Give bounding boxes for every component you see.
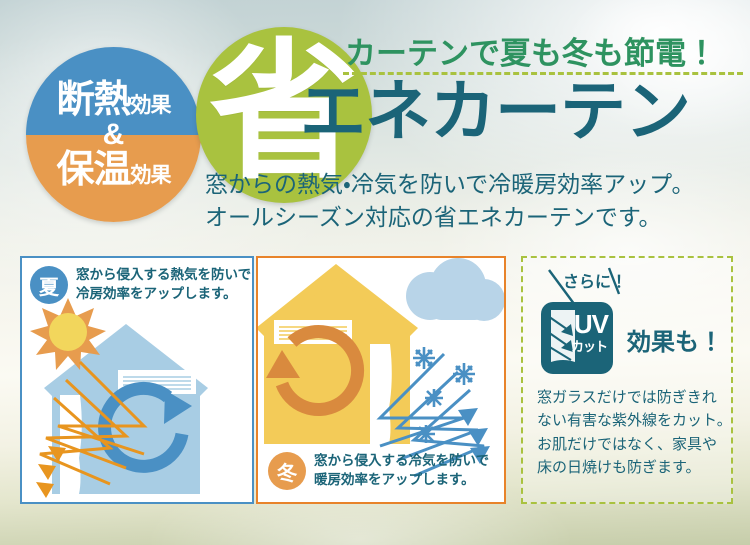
house-body-winter-left [264,270,336,444]
badge-hoon-label: 保温 [56,151,130,189]
uv-cut-icon: UV カット [541,302,613,374]
curtain-summer [60,395,82,494]
badge-ampersand: & [103,120,125,150]
curtain-winter [370,344,392,444]
ac-unit-louvers-winter [279,327,347,339]
uv-body-line-1: 窓ガラスだけでは防ぎきれ [537,386,727,409]
summer-panel: 夏 窓から侵入する熱気を防いで 冷房効率をアップします。 [20,256,254,504]
winter-caption-line-2: 暖房効率をアップします。 [314,471,489,490]
ac-unit-summer [118,370,196,394]
house-roof-summer [44,324,208,396]
lead-paragraph: 窓からの熱気・冷気を防いで冷暖房効率アップ。 オールシーズン対応の省エネカーテン… [205,168,694,233]
winter-caption-group: 冬 窓から侵入する冷気を防いで 暖房効率をアップします。 [268,452,489,490]
page-title: エネカーテン [300,78,690,144]
summer-caption-line-2: 冷房効率をアップします。 [76,285,251,304]
summer-caption-line-1: 窓から侵入する熱気を防いで [76,266,251,285]
cloud-icon-winter [406,258,504,321]
ac-unit-winter [274,320,352,344]
winter-panel: 冬 窓から侵入する冷気を防いで 暖房効率をアップします。 [256,256,506,504]
eco-curtain-banner: 断熱 効果 & 保温 効果 省 カーテンで夏も冬も節電！ エネカーテン 窓からの… [0,0,750,545]
sarani-label: さらに！ [563,268,627,292]
winter-caption-text: 窓から侵入する冷気を防いで 暖房効率をアップします。 [314,452,489,489]
uv-body-line-2: ない有害な紫外線をカット。 [537,409,727,432]
uv-cut-panel: さらに！ UV カット 効果も！ 窓ガラスだけでは防ぎきれ ない有害な紫外線をカ [521,256,733,504]
badge-hoon-effect-label: 効果 [131,165,171,189]
uv-effect-label: 効果も！ [627,322,723,357]
house-roof-winter [258,264,418,336]
lead-line-1: 窓からの熱気・冷気を防いで冷暖房効率アップ。 [205,168,694,201]
badge-text-group: 断熱 効果 & 保温 効果 [26,47,201,222]
heat-ray-zigzag-summer [40,362,144,484]
season-badge-winter: 冬 [268,452,306,490]
air-circulation-arrow-winter [266,332,358,410]
uv-body-line-4: 床の日焼けも防ぎます。 [537,456,727,479]
winter-caption-line-1: 窓から侵入する冷気を防いで [314,452,489,471]
uv-body-line-3: お肌だけではなく、家具や [537,433,727,456]
insulation-effect-badge: 断熱 効果 & 保温 効果 [26,47,201,222]
house-body-winter [336,270,410,444]
sun-icon-summer [30,298,106,370]
badge-danetsu-label: 断熱 [56,81,130,119]
tagline-text: カーテンで夏も冬も節電！ [345,28,717,73]
badge-danetsu-effect-label: 効果 [131,95,171,119]
house-body-summer-left [52,330,126,494]
ac-unit-louvers-summer [123,377,191,389]
badge-line-insulation: 断熱 効果 [56,81,170,119]
summer-caption-text: 窓から侵入する熱気を防いで 冷房効率をアップします。 [76,266,251,303]
badge-line-warmth: 保温 効果 [56,151,170,189]
snowflake-icon [413,347,475,443]
lead-line-2: オールシーズン対応の省エネカーテンです。 [205,201,694,234]
air-circulation-arrow-summer [105,388,192,466]
summer-caption-group: 夏 窓から侵入する熱気を防いで 冷房効率をアップします。 [30,266,251,304]
uv-badge-main-label: UV [574,311,608,337]
season-badge-summer: 夏 [30,266,68,304]
uv-badge-sub-label: カット [571,340,607,353]
house-body-summer [126,330,200,494]
heat-ray-arrowheads-summer [36,446,66,498]
uv-body-text: 窓ガラスだけでは防ぎきれ ない有害な紫外線をカット。 お肌だけではなく、家具や … [537,386,727,479]
